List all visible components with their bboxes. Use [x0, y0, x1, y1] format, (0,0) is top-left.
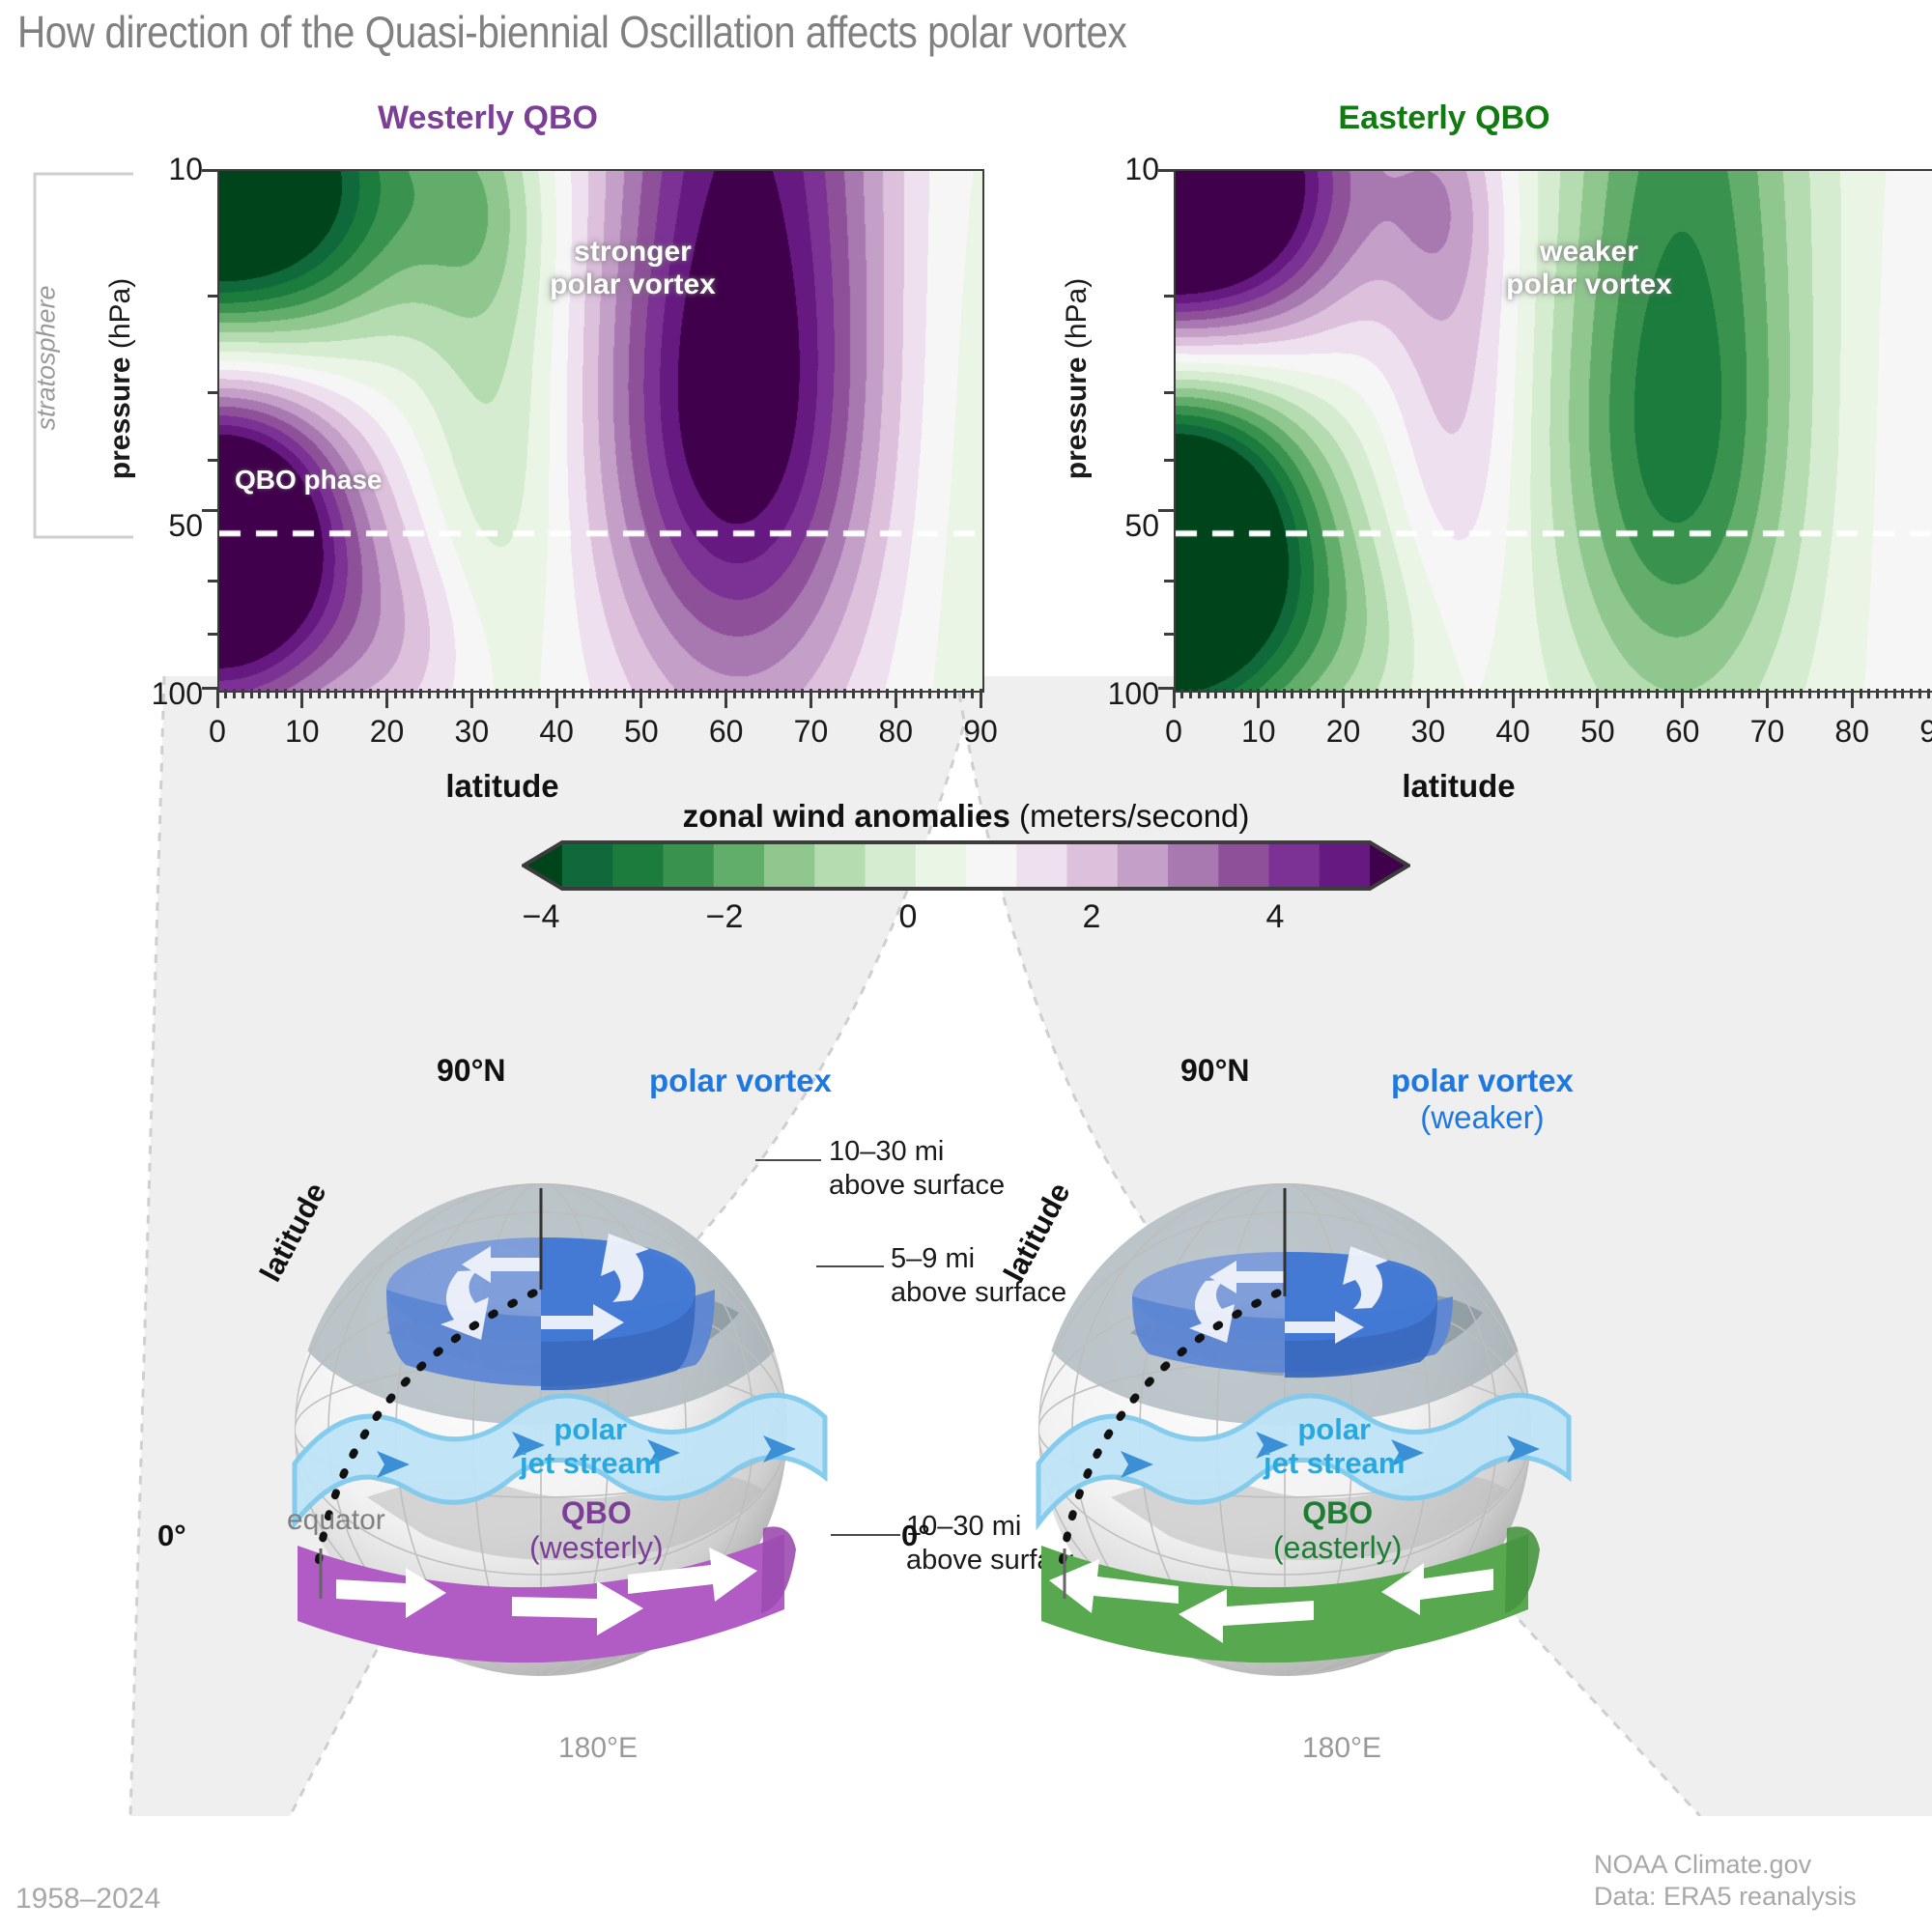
xtick-minor	[394, 689, 397, 698]
xtick-minor	[293, 689, 296, 698]
xtick-minor	[1189, 689, 1192, 698]
xtick-minor	[1528, 689, 1531, 698]
xtick-minor	[1613, 689, 1616, 698]
ytick-easterly-100: 100	[1053, 676, 1159, 712]
xtick-minor	[445, 689, 448, 698]
xtick-label-70: 70	[1719, 714, 1815, 750]
annotation-weaker-polar-vortex: weaker polar vortex	[1396, 236, 1782, 300]
xtick-minor	[971, 689, 974, 698]
globe-westerly-qbo-label: QBO (westerly)	[529, 1495, 664, 1565]
polar-vortex-line1: polar vortex	[1391, 1063, 1574, 1099]
xtick-minor	[937, 689, 940, 698]
xtick-minor	[411, 689, 413, 698]
xtick-minor	[1579, 689, 1582, 698]
y-axis-label-bold: pressure	[104, 356, 136, 479]
xtick-major	[980, 689, 982, 708]
xtick-minor	[1274, 689, 1277, 698]
xtick-minor	[953, 689, 956, 698]
xtick-minor	[1359, 689, 1362, 698]
cbtick-0: 0	[850, 898, 966, 936]
xtick-minor	[1860, 689, 1862, 698]
xtick-minor	[572, 689, 575, 698]
xtick-minor	[403, 689, 406, 698]
xtick-minor	[369, 689, 372, 698]
xtick-major	[1427, 689, 1430, 708]
globe-easterly-polar-vortex-label: polar vortex (weaker)	[1391, 1063, 1574, 1136]
xtick-major	[1766, 689, 1769, 708]
xtick-minor	[1402, 689, 1405, 698]
xtick-minor	[614, 689, 617, 698]
xtick-minor	[309, 689, 312, 698]
xtick-minor	[1461, 689, 1463, 698]
jet-line2: jet stream	[520, 1446, 661, 1480]
xtick-minor	[1180, 689, 1183, 698]
xtick-minor	[1885, 689, 1888, 698]
xtick-minor	[1571, 689, 1574, 698]
xtick-minor	[1486, 689, 1489, 698]
xtick-minor	[708, 689, 711, 698]
colorbar	[522, 838, 1410, 896]
xtick-minor	[1842, 689, 1845, 698]
xtick-minor	[437, 689, 440, 698]
xtick-minor	[598, 689, 601, 698]
xtick-minor	[886, 689, 889, 698]
globe-westerly-equator-label: equator	[287, 1504, 385, 1537]
xtick-major	[639, 689, 642, 708]
jet-line1-2: polar	[1264, 1412, 1405, 1446]
cbtick-4: 4	[1217, 898, 1333, 936]
xtick-minor	[1664, 689, 1667, 698]
xtick-minor	[1240, 689, 1243, 698]
xtick-minor	[623, 689, 626, 698]
globe-easterly-pole-label: 90°N	[1180, 1053, 1250, 1089]
xtick-minor	[1384, 689, 1387, 698]
xtick-minor	[751, 689, 753, 698]
xtick-minor	[716, 689, 719, 698]
y-axis-label-bold-2: pressure	[1061, 356, 1093, 479]
ytick-westerly-100: 100	[97, 676, 203, 712]
xtick-minor	[920, 689, 923, 698]
xtick-minor	[784, 689, 787, 698]
xtick-major	[724, 689, 727, 708]
annotation-line1: stronger	[440, 236, 826, 269]
xtick-minor	[1283, 689, 1286, 698]
xtick-minor	[522, 689, 525, 698]
xtick-minor	[1672, 689, 1675, 698]
xtick-minor	[1198, 689, 1201, 698]
xtick-minor	[479, 689, 482, 698]
xtick-minor	[1249, 689, 1252, 698]
xtick-label-70: 70	[762, 714, 859, 750]
y-axis-label-westerly: pressure (hPa)	[104, 224, 137, 533]
xtick-label-30: 30	[423, 714, 520, 750]
xtick-minor	[1656, 689, 1659, 698]
xtick-minor	[1333, 689, 1336, 698]
xtick-minor	[877, 689, 880, 698]
xtick-minor	[1825, 689, 1828, 698]
xtick-major	[1342, 689, 1345, 708]
xtick-marks-westerly: 0102030405060708090	[217, 689, 982, 710]
xtick-minor	[767, 689, 770, 698]
xtick-minor	[284, 689, 287, 698]
colorbar-title-bold: zonal wind anomalies	[683, 798, 1010, 834]
xtick-minor	[758, 689, 761, 698]
xtick-minor	[1901, 689, 1904, 698]
qbo-line1-2: QBO	[1273, 1495, 1402, 1530]
xtick-minor	[1265, 689, 1268, 698]
xtick-minor	[1443, 689, 1446, 698]
globe-westerly-bottom-label: 180°E	[558, 1732, 638, 1765]
xtick-minor	[343, 689, 346, 698]
xtick-minor	[1690, 689, 1692, 698]
xtick-minor	[453, 689, 456, 698]
globe-easterly-qbo-label: QBO (easterly)	[1273, 1495, 1402, 1565]
cbtick-2: 2	[1034, 898, 1150, 936]
xtick-minor	[1698, 689, 1701, 698]
xtick-minor	[1537, 689, 1540, 698]
xtick-label-10: 10	[254, 714, 351, 750]
globe-westerly-jet-label: polar jet stream	[520, 1412, 661, 1480]
xtick-minor	[352, 689, 355, 698]
leader-line-3	[831, 1534, 900, 1536]
xtick-minor	[742, 689, 745, 698]
xtick-minor	[843, 689, 846, 698]
xtick-label-50: 50	[1549, 714, 1646, 750]
xtick-minor	[1207, 689, 1209, 698]
annotation-line1-2: weaker	[1396, 236, 1782, 269]
xtick-minor	[801, 689, 804, 698]
xtick-label-80: 80	[847, 714, 944, 750]
xtick-minor	[1308, 689, 1311, 698]
xtick-minor	[1478, 689, 1481, 698]
xtick-label-60: 60	[1634, 714, 1731, 750]
xtick-minor	[792, 689, 795, 698]
xtick-minor	[1910, 689, 1913, 698]
xtick-minor	[1299, 689, 1302, 698]
cbtick--2: −2	[667, 898, 782, 936]
footer-credit-line1: NOAA Climate.gov	[1594, 1849, 1857, 1881]
xtick-minor	[1554, 689, 1557, 698]
xtick-minor	[1435, 689, 1438, 698]
xtick-minor	[250, 689, 253, 698]
xtick-minor	[1325, 689, 1328, 698]
xtick-minor	[606, 689, 609, 698]
xtick-minor	[674, 689, 677, 698]
xtick-major	[555, 689, 558, 708]
globe-westerly-zero-label: 0°	[157, 1519, 186, 1553]
xtick-minor	[1520, 689, 1522, 698]
xtick-minor	[1350, 689, 1353, 698]
xtick-label-40: 40	[508, 714, 605, 750]
annotation-stronger-polar-vortex: stronger polar vortex	[440, 236, 826, 300]
xtick-minor	[547, 689, 550, 698]
xtick-minor	[1817, 689, 1820, 698]
xtick-label-30: 30	[1379, 714, 1476, 750]
xtick-minor	[648, 689, 651, 698]
xtick-label-90: 90	[932, 714, 1029, 750]
xtick-minor	[1927, 689, 1930, 698]
xtick-minor	[1638, 689, 1641, 698]
xtick-minor	[1631, 689, 1634, 698]
xtick-minor	[1214, 689, 1217, 698]
xtick-minor	[589, 689, 592, 698]
xtick-minor	[1622, 689, 1625, 698]
qbo-line2-2: (easterly)	[1273, 1530, 1402, 1565]
xtick-minor	[1291, 689, 1293, 698]
stratosphere-label: stratosphere	[32, 252, 62, 465]
footer-date-range: 1958–2024	[15, 1882, 160, 1918]
xtick-minor	[776, 689, 779, 698]
ytick-marks-westerly	[200, 169, 219, 691]
globe-easterly-jet-label: polar jet stream	[1264, 1412, 1405, 1480]
y-axis-label-easterly: pressure (hPa)	[1061, 224, 1094, 533]
xtick-minor	[581, 689, 583, 698]
xtick-label-0: 0	[169, 714, 266, 750]
xtick-minor	[538, 689, 541, 698]
xtick-label-20: 20	[339, 714, 436, 750]
xtick-minor	[1418, 689, 1421, 698]
xtick-minor	[1469, 689, 1472, 698]
xtick-minor	[327, 689, 329, 698]
xtick-minor	[241, 689, 244, 698]
xtick-label-0: 0	[1125, 714, 1222, 750]
xtick-marks-easterly: 0102030405060708090	[1174, 689, 1932, 710]
qbo-phase-label-westerly: QBO phase	[235, 465, 382, 496]
globe-easterly-bottom-label: 180°E	[1302, 1732, 1381, 1765]
colorbar-title-unit: (meters/second)	[1010, 798, 1250, 834]
xtick-minor	[1494, 689, 1497, 698]
xtick-minor	[224, 689, 227, 698]
xtick-minor	[827, 689, 830, 698]
xtick-minor	[529, 689, 532, 698]
globe-westerly-polar-vortex-label: polar vortex	[649, 1063, 832, 1099]
xtick-major	[1257, 689, 1260, 708]
colorbar-title: zonal wind anomalies (meters/second)	[531, 798, 1401, 835]
xtick-minor	[1317, 689, 1320, 698]
annotation-line2-2: polar vortex	[1396, 269, 1782, 301]
xtick-minor	[1893, 689, 1896, 698]
xtick-minor	[928, 689, 931, 698]
xtick-minor	[1867, 689, 1870, 698]
leader-line-1	[755, 1159, 821, 1161]
xtick-minor	[360, 689, 363, 698]
xtick-major	[385, 689, 388, 708]
xtick-minor	[1741, 689, 1744, 698]
xtick-minor	[852, 689, 855, 698]
xtick-minor	[1833, 689, 1836, 698]
colorbar-ticks: −4 −2 0 2 4	[522, 898, 1410, 947]
xtick-label-10: 10	[1210, 714, 1307, 750]
xtick-major	[216, 689, 219, 708]
xtick-minor	[1723, 689, 1726, 698]
xtick-minor	[1605, 689, 1607, 698]
xtick-minor	[419, 689, 422, 698]
jet-line1: polar	[520, 1412, 661, 1446]
xtick-minor	[1562, 689, 1565, 698]
xtick-minor	[267, 689, 270, 698]
leader-line-2	[816, 1265, 884, 1267]
xtick-major	[1512, 689, 1515, 708]
xtick-minor	[632, 689, 635, 698]
xtick-minor	[682, 689, 685, 698]
xtick-minor	[1715, 689, 1718, 698]
xtick-minor	[1393, 689, 1396, 698]
y-axis-label-unit: (hPa)	[104, 278, 136, 357]
panel-title-easterly: Easterly QBO	[1174, 99, 1715, 137]
xtick-minor	[496, 689, 498, 698]
page-title: How direction of the Quasi-biennial Osci…	[17, 6, 1463, 58]
qbo-line1: QBO	[529, 1495, 664, 1530]
xtick-minor	[334, 689, 337, 698]
xtick-label-60: 60	[678, 714, 775, 750]
xtick-minor	[835, 689, 838, 698]
jet-line2-2: jet stream	[1264, 1446, 1405, 1480]
xtick-minor	[1783, 689, 1786, 698]
footer-credit-line2: Data: ERA5 reanalysis	[1594, 1881, 1857, 1913]
xtick-minor	[861, 689, 864, 698]
ytick-westerly-50: 50	[97, 508, 203, 544]
xtick-minor	[945, 689, 948, 698]
xtick-minor	[513, 689, 516, 698]
xtick-major	[1681, 689, 1684, 708]
xtick-minor	[1876, 689, 1879, 698]
xtick-label-40: 40	[1464, 714, 1561, 750]
xtick-minor	[666, 689, 668, 698]
xtick-label-80: 80	[1804, 714, 1900, 750]
xtick-minor	[911, 689, 914, 698]
xtick-minor	[428, 689, 431, 698]
y-axis-label-unit-2: (hPa)	[1061, 278, 1093, 357]
xtick-minor	[962, 689, 965, 698]
xtick-major	[300, 689, 303, 708]
xtick-minor	[733, 689, 736, 698]
xtick-major	[810, 689, 812, 708]
xtick-minor	[1367, 689, 1370, 698]
xtick-label-50: 50	[593, 714, 690, 750]
xtick-major	[1851, 689, 1854, 708]
xtick-minor	[1452, 689, 1455, 698]
xtick-minor	[1748, 689, 1751, 698]
ytick-easterly-50: 50	[1053, 508, 1159, 544]
xtick-minor	[377, 689, 380, 698]
xtick-minor	[275, 689, 278, 698]
xtick-minor	[903, 689, 906, 698]
xtick-minor	[1647, 689, 1650, 698]
xtick-minor	[1588, 689, 1591, 698]
xtick-minor	[657, 689, 660, 698]
footer-credit: NOAA Climate.gov Data: ERA5 reanalysis	[1594, 1849, 1857, 1913]
xtick-minor	[1800, 689, 1803, 698]
xtick-minor	[318, 689, 321, 698]
xtick-major	[1173, 689, 1176, 708]
xtick-minor	[1707, 689, 1710, 698]
xtick-minor	[1409, 689, 1412, 698]
xtick-minor	[868, 689, 871, 698]
xtick-minor	[1732, 689, 1735, 698]
cbtick--4: −4	[483, 898, 599, 936]
xtick-label-20: 20	[1295, 714, 1392, 750]
xtick-minor	[258, 689, 261, 698]
xtick-minor	[1775, 689, 1777, 698]
xtick-minor	[504, 689, 507, 698]
xtick-minor	[818, 689, 821, 698]
panel-title-westerly: Westerly QBO	[217, 99, 758, 137]
xtick-minor	[1918, 689, 1921, 698]
xtick-minor	[233, 689, 236, 698]
xtick-minor	[462, 689, 465, 698]
xtick-major	[470, 689, 473, 708]
qbo-line2: (westerly)	[529, 1530, 664, 1565]
xtick-minor	[563, 689, 566, 698]
xtick-major	[1596, 689, 1599, 708]
xtick-label-90: 90	[1889, 714, 1932, 750]
annotation-line2: polar vortex	[440, 269, 826, 301]
polar-vortex-line2: (weaker)	[1391, 1099, 1574, 1136]
xtick-major	[895, 689, 897, 708]
xtick-minor	[1503, 689, 1506, 698]
xtick-minor	[1376, 689, 1378, 698]
globe-easterly-zero-label: 0°	[901, 1519, 930, 1553]
xtick-minor	[1232, 689, 1235, 698]
ytick-easterly-10: 10	[1053, 152, 1159, 187]
xtick-minor	[1757, 689, 1760, 698]
ytick-westerly-10: 10	[97, 152, 203, 187]
xtick-minor	[699, 689, 702, 698]
xtick-minor	[691, 689, 694, 698]
xtick-minor	[487, 689, 490, 698]
xtick-minor	[1223, 689, 1226, 698]
xtick-minor	[1808, 689, 1811, 698]
globe-westerly-pole-label: 90°N	[437, 1053, 506, 1089]
ytick-marks-easterly	[1156, 169, 1176, 691]
xtick-minor	[1546, 689, 1548, 698]
xtick-minor	[1791, 689, 1794, 698]
